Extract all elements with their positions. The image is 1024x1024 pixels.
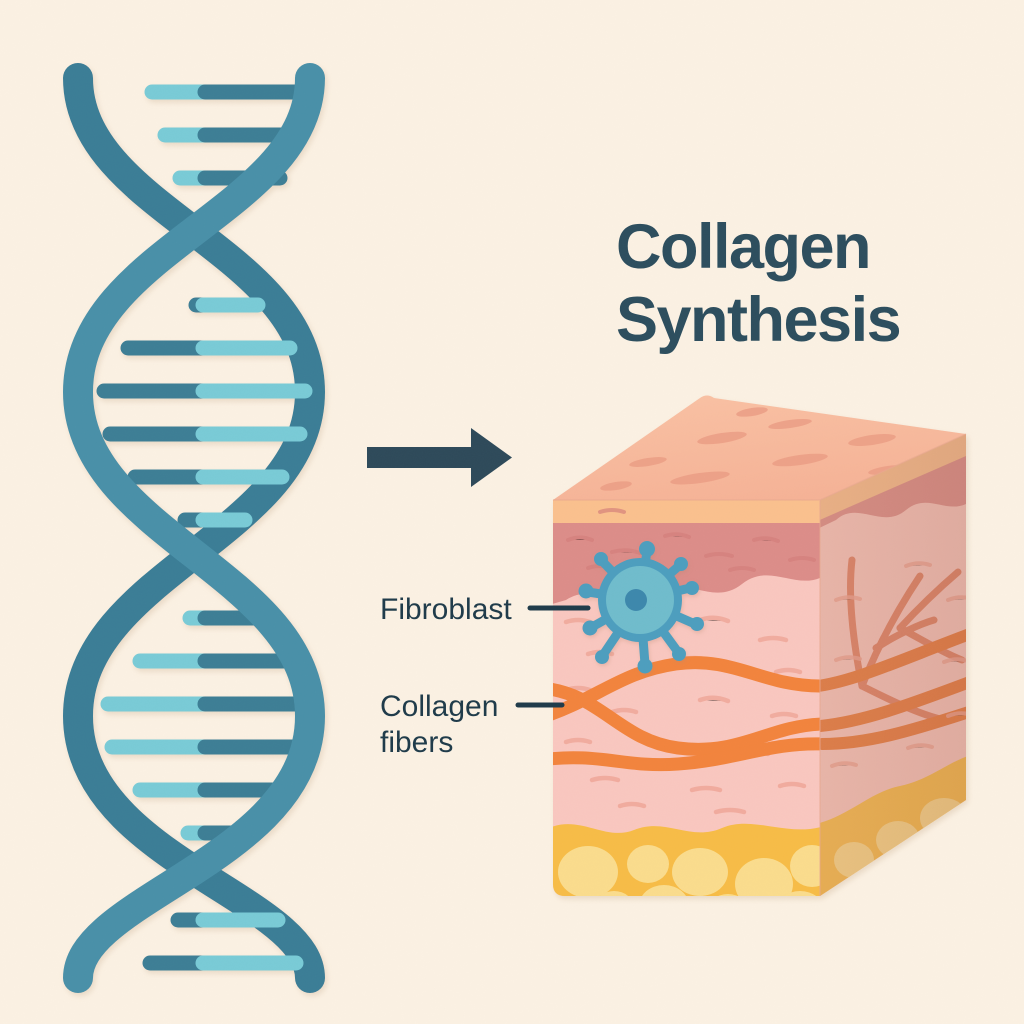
illustration-canvas: Collagen Synthesis Fibroblast Collagen f… [0, 0, 1024, 1024]
collagen-synthesis-illustration: Collagen Synthesis Fibroblast Collagen f… [0, 0, 1024, 1024]
paper-grain-overlay [0, 0, 1024, 1024]
